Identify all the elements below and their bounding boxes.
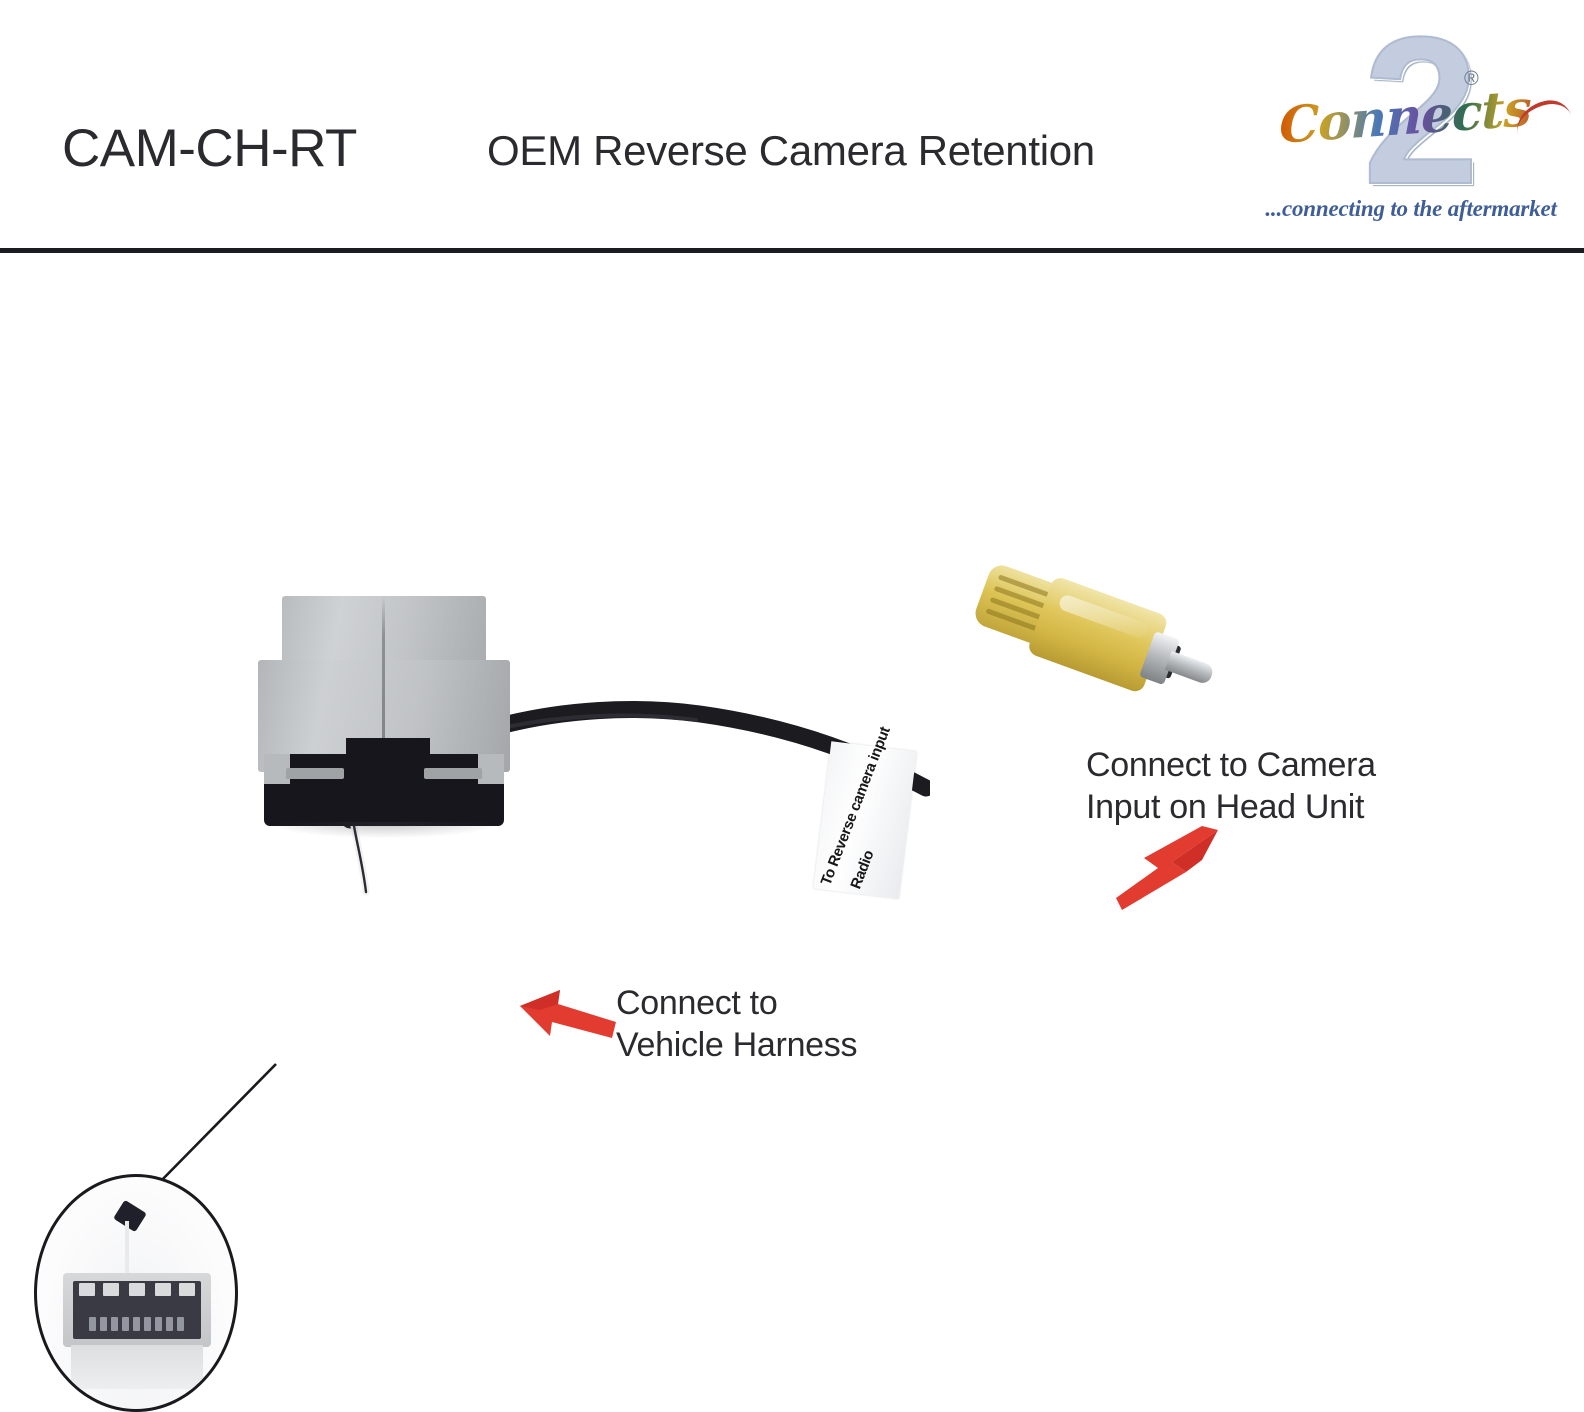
detail-connector-body — [63, 1273, 211, 1347]
connector-shadow — [268, 822, 500, 838]
callout-harness-line-2: Vehicle Harness — [616, 1024, 857, 1066]
callout-harness-line-1: Connect to — [616, 982, 857, 1024]
cable-flag-label: To Reverse camera input Radio — [813, 741, 916, 898]
registered-trademark-icon: ® — [1464, 68, 1479, 91]
detail-pin — [177, 1317, 184, 1331]
connector-slot-left — [286, 768, 344, 779]
detail-pin — [166, 1317, 173, 1331]
detail-circle-frame — [34, 1174, 238, 1412]
product-diagram: To Reverse camera input Radio Connect to… — [0, 252, 1584, 1224]
detail-pin — [111, 1317, 118, 1331]
detail-cable-end — [113, 1200, 147, 1232]
detail-pin — [89, 1317, 96, 1331]
arrow-to-rca-plug — [1106, 824, 1226, 916]
detail-pin-cavity — [73, 1281, 201, 1339]
detail-top-slot — [129, 1283, 145, 1296]
connects2-logo: 2 Connects ® ...connecting to the afterm… — [1246, 28, 1576, 228]
detail-connector-base — [71, 1345, 203, 1389]
connector-slot-right — [424, 768, 482, 779]
detail-pin — [122, 1317, 129, 1331]
logo-tagline: ...connecting to the aftermarket — [1246, 196, 1576, 222]
detail-top-slot — [79, 1283, 95, 1296]
callout-head-unit-line-1: Connect to Camera — [1086, 744, 1376, 786]
detail-top-slot — [179, 1283, 195, 1296]
part-number: CAM-CH-RT — [62, 118, 357, 179]
product-title: OEM Reverse Camera Retention — [487, 127, 1095, 175]
detail-white-wire — [125, 1221, 129, 1275]
page-header: CAM-CH-RT OEM Reverse Camera Retention 2… — [0, 0, 1584, 252]
callout-head-unit-line-2: Input on Head Unit — [1086, 786, 1376, 828]
arrow-to-harness-connector — [516, 988, 620, 1046]
connector-mating-face — [264, 754, 504, 826]
rca-center-pin — [1165, 651, 1215, 686]
detail-pin — [155, 1317, 162, 1331]
cable-label-line-2: Radio — [847, 848, 877, 891]
connector-pin-detail — [34, 1174, 236, 1410]
detail-top-slot — [155, 1283, 171, 1296]
detail-pin — [133, 1317, 140, 1331]
connector-latch-tab — [346, 738, 430, 758]
callout-vehicle-harness: Connect to Vehicle Harness — [616, 982, 857, 1066]
detail-leader-line — [150, 1060, 280, 1190]
detail-pin — [100, 1317, 107, 1331]
vehicle-harness-connector — [258, 596, 510, 828]
detail-top-slot — [103, 1283, 119, 1296]
detail-pin — [144, 1317, 151, 1331]
callout-head-unit: Connect to Camera Input on Head Unit — [1086, 744, 1376, 828]
